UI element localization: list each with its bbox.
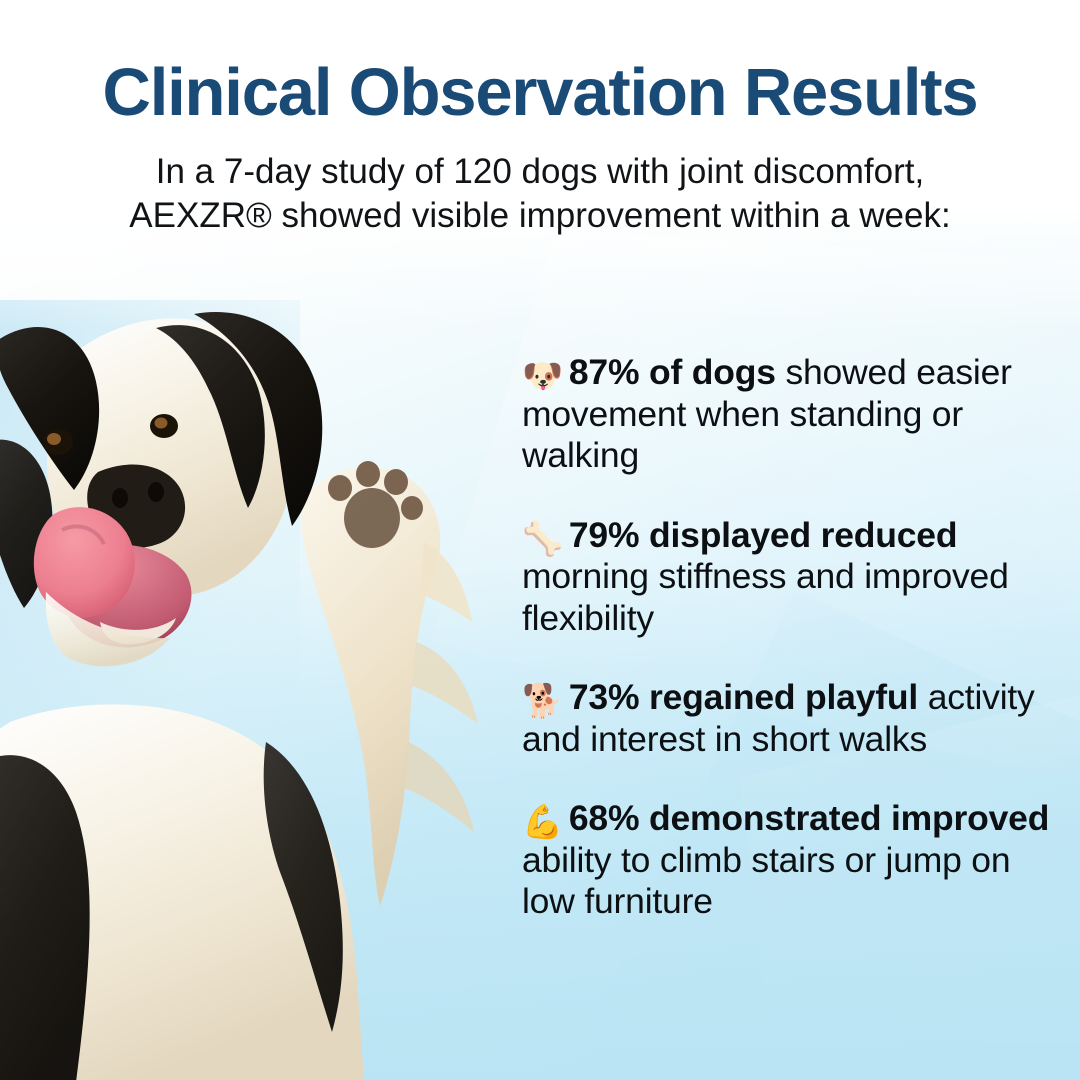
flexed-biceps-emoji: 💪 (522, 802, 563, 841)
subtitle-line-1: In a 7-day study of 120 dogs with joint … (60, 150, 1020, 195)
dog-face-emoji: 🐶 (522, 356, 563, 395)
list-item: 💪68% demonstrated improved ability to cl… (522, 798, 1062, 923)
page-title: Clinical Observation Results (0, 58, 1080, 128)
stat-highlight: 79% displayed reduced (569, 515, 957, 555)
stat-highlight: 73% regained playful (569, 677, 918, 717)
paw-feather-b (412, 642, 478, 724)
paw-feather-c (404, 742, 474, 832)
stat-highlight: 87% of dogs (569, 352, 776, 392)
stat-highlight: 68% demonstrated improved (569, 798, 1049, 838)
dog-right-iris (155, 418, 168, 429)
paw-feather-a (420, 542, 472, 622)
page-subtitle: In a 7-day study of 120 dogs with joint … (60, 150, 1020, 240)
list-item: 🦴79% displayed reduced morning stiffness… (522, 515, 1062, 640)
paw-toe-3 (384, 469, 408, 495)
dog-emoji: 🐕 (522, 681, 563, 720)
stat-detail: ability to climb stairs or jump on low f… (522, 840, 1010, 922)
nostril-right (148, 482, 164, 502)
poster-canvas: Clinical Observation Results In a 7-day … (0, 0, 1080, 1080)
dog-left-iris (47, 433, 61, 445)
list-item: 🐕73% regained playful activity and inter… (522, 677, 1062, 760)
paw-toe-4 (401, 496, 423, 520)
list-item: 🐶87% of dogs showed easier movement when… (522, 352, 1062, 477)
paw-toe-2 (356, 461, 380, 487)
stats-list: 🐶87% of dogs showed easier movement when… (522, 352, 1062, 923)
subtitle-line-2: AEXZR® showed visible improvement within… (60, 194, 1020, 239)
paw-toe-1 (328, 475, 352, 501)
paw-pad-center (344, 488, 400, 548)
nostril-left (112, 488, 128, 508)
header: Clinical Observation Results In a 7-day … (0, 0, 1080, 239)
stat-detail: morning stiffness and improved flexibili… (522, 556, 1009, 638)
border-collie-photo (0, 292, 500, 1080)
dog-illustration (0, 292, 500, 1080)
bone-emoji: 🦴 (522, 519, 563, 558)
